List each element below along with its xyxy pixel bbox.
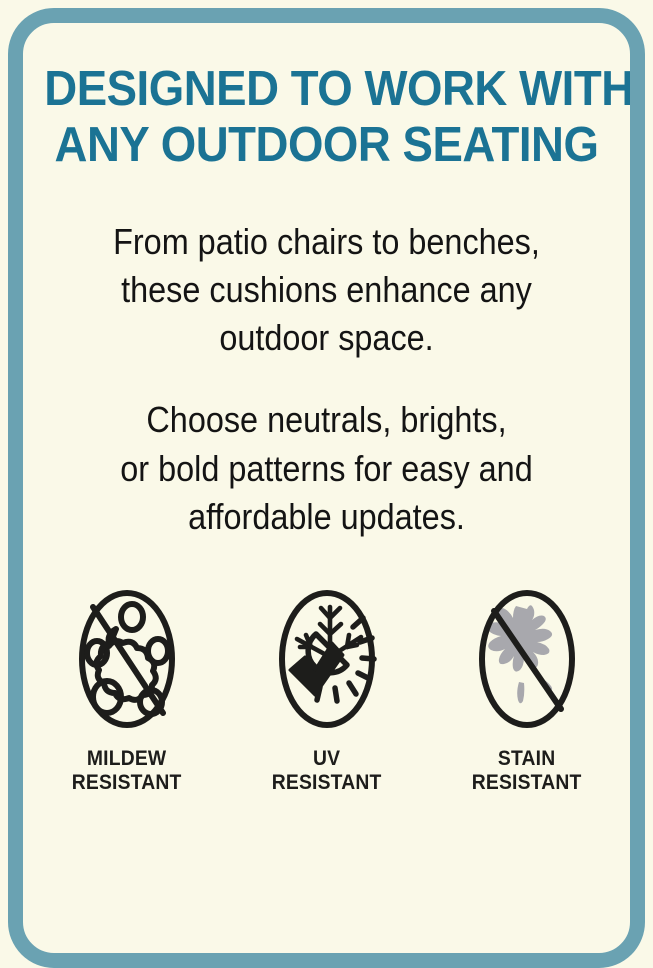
badge-mildew-resistant: MILDEW RESISTANT — [42, 585, 212, 794]
page-title: DESIGNED TO WORK WITH ANY OUTDOOR SEATIN… — [44, 61, 609, 174]
badge-stain-label: STAIN RESISTANT — [472, 747, 582, 794]
paragraph-2-line-1: Choose neutrals, brights, — [53, 396, 599, 444]
badge-stain-label-line-1: STAIN — [472, 747, 582, 771]
paragraph-1-line-3: outdoor space. — [53, 314, 599, 362]
description-paragraph-2: Choose neutrals, brights, or bold patter… — [53, 396, 599, 541]
badge-uv-label: UV RESISTANT — [272, 747, 382, 794]
paragraph-2-line-2: or bold patterns for easy and — [53, 445, 599, 493]
feature-badges-row: MILDEW RESISTANT — [23, 585, 630, 794]
badge-mildew-label-line-1: MILDEW — [72, 747, 182, 771]
badge-uv-label-line-2: RESISTANT — [272, 771, 382, 795]
paragraph-2-line-3: affordable updates. — [53, 493, 599, 541]
badge-stain-resistant: STAIN RESISTANT — [442, 585, 612, 794]
infographic-card: DESIGNED TO WORK WITH ANY OUTDOOR SEATIN… — [8, 8, 645, 968]
headline-line-1: DESIGNED TO WORK WITH — [44, 61, 609, 117]
badge-mildew-label-line-2: RESISTANT — [72, 771, 182, 795]
headline-line-2: ANY OUTDOOR SEATING — [44, 117, 609, 173]
badge-uv-resistant: UV RESISTANT — [242, 585, 412, 794]
card-content: DESIGNED TO WORK WITH ANY OUTDOOR SEATIN… — [23, 23, 630, 953]
badge-stain-label-line-2: RESISTANT — [472, 771, 582, 795]
description-paragraph-1: From patio chairs to benches, these cush… — [53, 218, 599, 363]
badge-mildew-label: MILDEW RESISTANT — [72, 747, 182, 794]
mildew-resistant-icon — [75, 585, 179, 733]
paragraph-1-line-1: From patio chairs to benches, — [53, 218, 599, 266]
badge-uv-label-line-1: UV — [272, 747, 382, 771]
uv-resistant-icon — [275, 585, 379, 733]
paragraph-1-line-2: these cushions enhance any — [53, 266, 599, 314]
stain-resistant-icon — [475, 585, 579, 733]
